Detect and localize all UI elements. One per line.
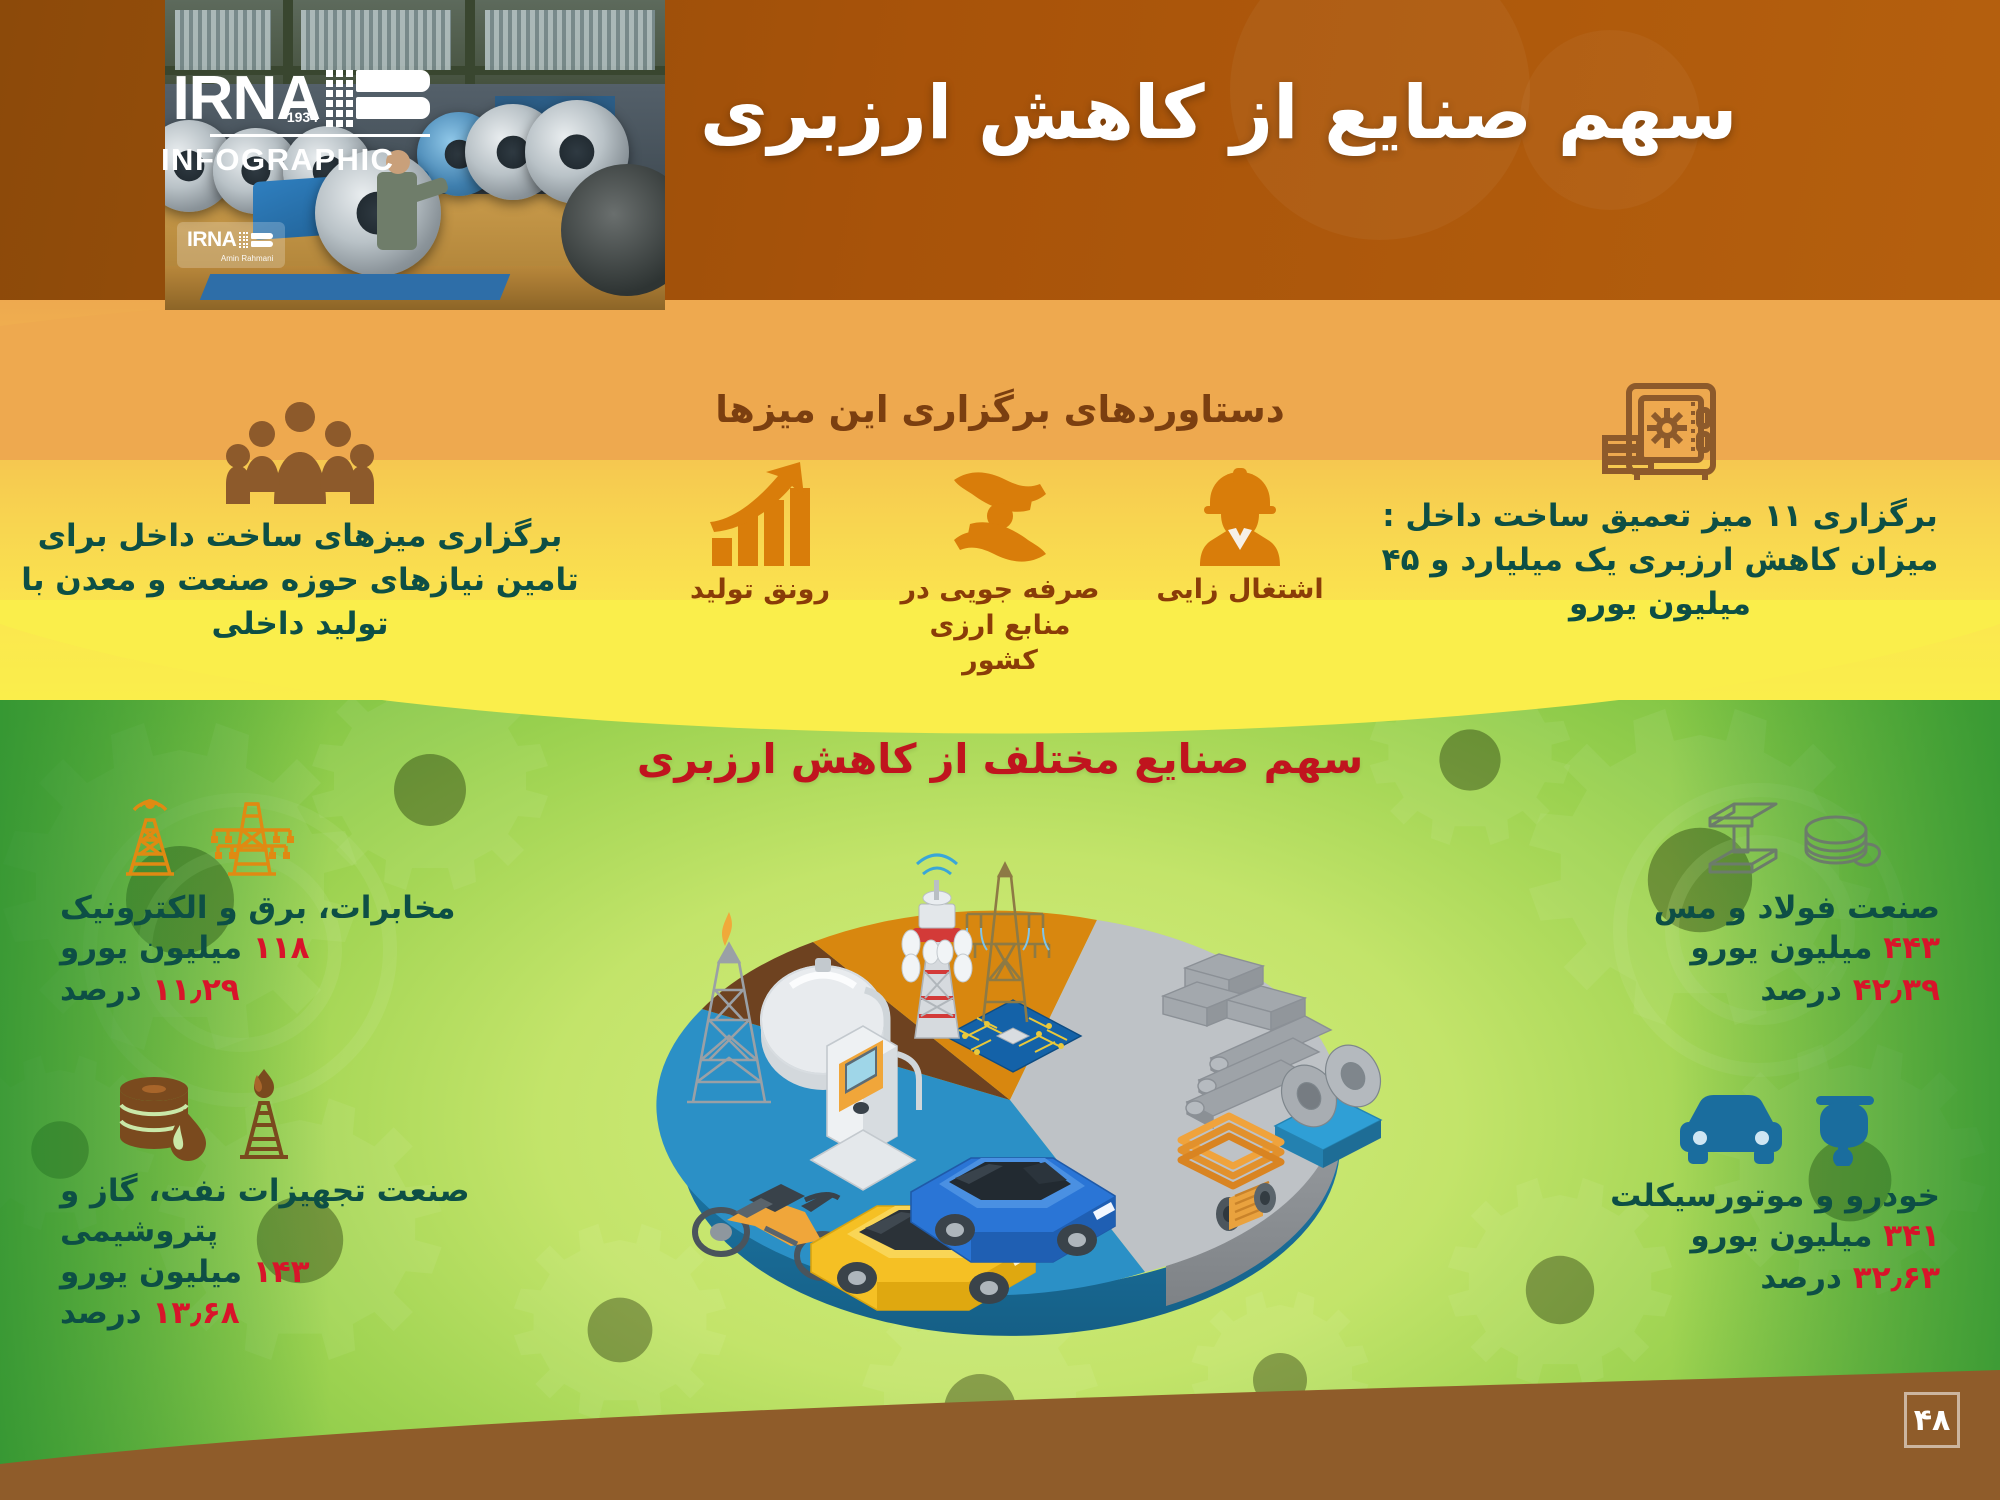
page-number: ۴۸ xyxy=(1904,1392,1960,1448)
logo-divider-rule xyxy=(210,134,430,137)
growth-bar-chart-icon xyxy=(655,462,865,566)
steel-beam-icon xyxy=(1704,800,1782,882)
photo-credit: Amin Rahmani xyxy=(221,254,273,263)
pie-legend-steel-copper-name: صنعت فولاد و مس xyxy=(1510,888,1940,928)
copper-coil-icon xyxy=(1800,810,1886,882)
pie-legend-oil-gas-percent: ۱۳٫۶۸ درصد xyxy=(60,1293,490,1335)
pie-legend-telecom-percent: ۱۱٫۲۹ درصد xyxy=(60,970,490,1012)
infographic-label: INFOGRAPHIC xyxy=(172,142,394,178)
page-title: سهم صنایع از کاهش ارزبری xyxy=(700,70,1940,157)
oil-derrick-icon xyxy=(224,1065,304,1165)
pie-legend-automotive-value: ۳۴۱ میلیون یورو xyxy=(1510,1216,1940,1258)
benefit-item-savings: صرفه جویی در منابع ارزی کشور xyxy=(895,462,1105,679)
infographic-root: IRNA 1934 INFOGRAPHIC xyxy=(0,0,2000,1500)
benefit-item-production: رونق تولید xyxy=(655,462,865,679)
pie-legend-automotive-name: خودرو و موتورسیکلت xyxy=(1510,1176,1940,1216)
oil-barrel-icon xyxy=(114,1075,206,1165)
worker-helmet-icon xyxy=(1135,462,1345,566)
scooter-icon xyxy=(1802,1090,1886,1170)
power-pylon-icon xyxy=(204,796,300,882)
pie-legend-oil-gas: صنعت تجهیزات نفت، گاز و پتروشیمی ۱۴۳ میل… xyxy=(60,1065,490,1335)
shares-section-title: سهم صنایع مختلف از کاهش ارزبری xyxy=(0,735,2000,783)
pie-legend-steel-copper-value: ۴۴۳ میلیون یورو xyxy=(1510,928,1940,970)
radio-tower-icon xyxy=(114,790,186,882)
pie-legend-oil-gas-name: صنعت تجهیزات نفت، گاز و پتروشیمی xyxy=(60,1171,490,1252)
pie-legend-automotive: خودرو و موتورسیکلت ۳۴۱ میلیون یورو ۳۲٫۶۳… xyxy=(1510,1090,1940,1299)
pie-legend-automotive-percent: ۳۲٫۶۳ درصد xyxy=(1510,1258,1940,1300)
industry-share-pie-chart xyxy=(615,840,1405,1360)
benefit-item-worker: اشتغال زایی xyxy=(1135,462,1345,679)
benefit-label-production: رونق تولید xyxy=(655,572,865,608)
irna-logo[interactable]: IRNA 1934 INFOGRAPHIC xyxy=(172,70,430,178)
pie-legend-telecom-name: مخابرات، برق و الکترونیک xyxy=(60,888,490,928)
pie-legend-steel-copper-percent: ۴۲٫۳۹ درصد xyxy=(1510,970,1940,1012)
footer-background xyxy=(0,1360,2000,1500)
photo-watermark: IRNA Amin Rahmani xyxy=(177,222,285,268)
benefit-label-worker: اشتغال زایی xyxy=(1135,572,1345,608)
car-icon xyxy=(1678,1092,1784,1170)
pie-legend-telecom: مخابرات، برق و الکترونیک ۱۱۸ میلیون یورو… xyxy=(60,790,490,1011)
pie-legend-steel-copper: صنعت فولاد و مس ۴۴۳ میلیون یورو ۴۲٫۳۹ در… xyxy=(1510,800,1940,1011)
irna-founding-year: 1934 xyxy=(287,111,318,124)
irna-mark-icon xyxy=(326,70,430,127)
photo-watermark-text: IRNA xyxy=(187,228,236,252)
hands-saving-coin-icon xyxy=(895,462,1105,566)
pie-legend-telecom-value: ۱۱۸ میلیون یورو xyxy=(60,928,490,970)
pie-legend-oil-gas-value: ۱۴۳ میلیون یورو xyxy=(60,1252,490,1294)
achievement-benefits-list: اشتغال زایی صرفه جویی در منابع ارزی کشور xyxy=(0,462,2000,679)
benefit-label-savings: صرفه جویی در منابع ارزی کشور xyxy=(895,572,1105,679)
